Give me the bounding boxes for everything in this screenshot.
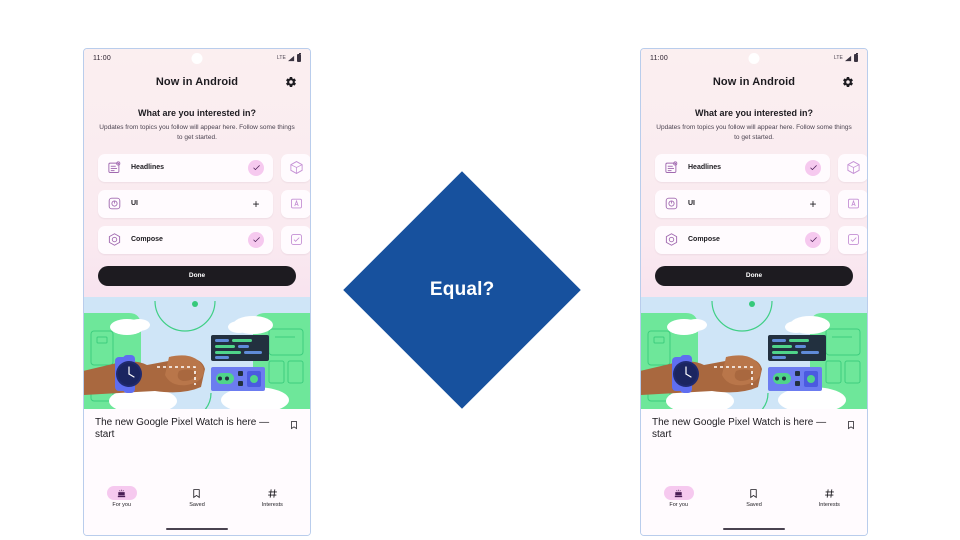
compose-hexagon-icon: [107, 232, 122, 247]
check-icon: [809, 163, 818, 172]
done-button[interactable]: Done: [98, 266, 296, 286]
topic-label: Compose: [131, 236, 248, 243]
phone-screen: 11:00 LTE Now in Android What are you in…: [84, 49, 310, 535]
topic-label: UI: [688, 200, 805, 207]
intro-title: What are you interested in?: [98, 108, 296, 118]
ui-camera-icon: [107, 196, 122, 211]
equal-decision-label: Equal?: [430, 279, 495, 301]
follow-toggle-compose[interactable]: [248, 232, 264, 248]
checkbox-icon: [846, 232, 861, 247]
status-time: 11:00: [650, 55, 668, 62]
nav-item-saved[interactable]: Saved: [159, 486, 234, 508]
for-you-icon: [116, 488, 127, 499]
topic-label: Headlines: [688, 164, 805, 171]
bookmark-icon: [748, 488, 759, 499]
nav-item-saved[interactable]: Saved: [716, 486, 791, 508]
done-button-container: Done: [84, 262, 310, 297]
topic-label: Compose: [688, 236, 805, 243]
nav-label: Interests: [262, 502, 283, 508]
topic-card-ui[interactable]: UI +: [98, 190, 273, 218]
bottom-navigation[interactable]: For you Saved Inte: [84, 483, 310, 523]
topic-card-peek-2[interactable]: [281, 190, 310, 218]
news-card-title: The new Google Pixel Watch is here — sta…: [95, 417, 283, 484]
punch-hole-camera-icon: [192, 53, 203, 64]
topic-card-ui[interactable]: UI +: [655, 190, 830, 218]
follow-toggle-compose[interactable]: [805, 232, 821, 248]
topic-card-compose[interactable]: Compose: [98, 226, 273, 254]
status-bar: 11:00 LTE: [84, 49, 310, 67]
gear-icon[interactable]: [285, 76, 297, 88]
nav-label: For you: [669, 502, 688, 508]
topic-row: UI +: [655, 190, 867, 218]
page-title: Now in Android: [156, 76, 238, 88]
hash-icon: [824, 488, 835, 499]
topic-row: UI +: [98, 190, 310, 218]
intro-block: What are you interested in? Updates from…: [641, 97, 867, 143]
nav-pill: [257, 486, 287, 500]
bookmark-icon[interactable]: [289, 419, 299, 431]
nav-label: For you: [112, 502, 131, 508]
network-label: LTE: [834, 55, 843, 61]
check-icon: [809, 235, 818, 244]
status-icons: LTE: [277, 54, 301, 62]
illustration-art: [641, 297, 867, 409]
signal-bars-icon: [288, 55, 295, 62]
news-card[interactable]: The new Google Pixel Watch is here — sta…: [641, 409, 867, 484]
page-title: Now in Android: [713, 76, 795, 88]
punch-hole-camera-icon: [749, 53, 760, 64]
topic-card-compose[interactable]: Compose: [655, 226, 830, 254]
cube-3d-icon: [846, 160, 861, 175]
for-you-icon: [673, 488, 684, 499]
topic-card-peek-2[interactable]: [838, 190, 867, 218]
topic-label: UI: [131, 200, 248, 207]
hash-icon: [267, 488, 278, 499]
ui-camera-icon: [664, 196, 679, 211]
gesture-navigation-bar[interactable]: [84, 523, 310, 535]
pixel-watch-hand-illustration: [641, 297, 867, 409]
intro-subtitle: Updates from topics you follow will appe…: [655, 123, 853, 143]
done-button[interactable]: Done: [655, 266, 853, 286]
checkbox-icon: [289, 232, 304, 247]
equal-decision-diamond: Equal?: [343, 171, 581, 409]
gesture-navigation-bar[interactable]: [641, 523, 867, 535]
intro-block: What are you interested in? Updates from…: [84, 97, 310, 143]
headlines-icon: [107, 160, 122, 175]
topic-card-peek-3[interactable]: [838, 226, 867, 254]
topic-row: Compose: [655, 226, 867, 254]
app-bar: Now in Android: [84, 67, 310, 97]
cube-3d-icon: [289, 160, 304, 175]
topic-row: Headlines: [655, 154, 867, 182]
topic-carousel[interactable]: Headlines: [84, 154, 310, 262]
nav-pill-active: [107, 486, 137, 500]
battery-icon: [854, 54, 858, 62]
gear-icon[interactable]: [842, 76, 854, 88]
phone-screen: 11:00 LTE Now in Android What are you in…: [641, 49, 867, 535]
done-button-container: Done: [641, 262, 867, 297]
nav-item-for-you[interactable]: For you: [641, 486, 716, 508]
follow-toggle-ui[interactable]: +: [805, 198, 821, 210]
topic-card-peek-3[interactable]: [281, 226, 310, 254]
ar-text-icon: [846, 196, 861, 211]
check-icon: [252, 163, 261, 172]
network-label: LTE: [277, 55, 286, 61]
news-card-title: The new Google Pixel Watch is here — sta…: [652, 417, 840, 484]
nav-item-for-you[interactable]: For you: [84, 486, 159, 508]
topic-label: Headlines: [131, 164, 248, 171]
topic-card-headlines[interactable]: Headlines: [655, 154, 830, 182]
compose-hexagon-icon: [664, 232, 679, 247]
app-bar: Now in Android: [641, 67, 867, 97]
nav-pill-active: [664, 486, 694, 500]
intro-subtitle: Updates from topics you follow will appe…: [98, 123, 296, 143]
nav-label: Saved: [189, 502, 205, 508]
done-button-label: Done: [189, 272, 205, 279]
check-icon: [252, 235, 261, 244]
signal-bars-icon: [845, 55, 852, 62]
nav-label: Interests: [819, 502, 840, 508]
ar-text-icon: [289, 196, 304, 211]
phone-screenshot-right: 11:00 LTE Now in Android What are you in…: [640, 48, 868, 536]
bottom-navigation[interactable]: For you Saved Inte: [641, 483, 867, 523]
follow-toggle-ui[interactable]: +: [248, 198, 264, 210]
comparison-stage: 11:00 LTE Now in Android What are you in…: [0, 0, 960, 540]
topic-row: Headlines: [98, 154, 310, 182]
status-bar: 11:00 LTE: [641, 49, 867, 67]
bookmark-icon[interactable]: [846, 419, 856, 431]
status-time: 11:00: [93, 55, 111, 62]
battery-icon: [297, 54, 301, 62]
news-card[interactable]: The new Google Pixel Watch is here — sta…: [84, 409, 310, 484]
topic-card-peek-1[interactable]: [281, 154, 310, 182]
nav-label: Saved: [746, 502, 762, 508]
intro-title: What are you interested in?: [655, 108, 853, 118]
illustration-art: [84, 297, 310, 409]
topic-row: Compose: [98, 226, 310, 254]
nav-pill: [182, 486, 212, 500]
phone-screenshot-left: 11:00 LTE Now in Android What are you in…: [83, 48, 311, 536]
follow-toggle-headlines[interactable]: [248, 160, 264, 176]
topic-card-peek-1[interactable]: [838, 154, 867, 182]
nav-item-interests[interactable]: Interests: [235, 486, 310, 508]
nav-pill: [739, 486, 769, 500]
follow-toggle-headlines[interactable]: [805, 160, 821, 176]
status-icons: LTE: [834, 54, 858, 62]
pixel-watch-hand-illustration: [84, 297, 310, 409]
bookmark-icon: [191, 488, 202, 499]
done-button-label: Done: [746, 272, 762, 279]
topic-card-headlines[interactable]: Headlines: [98, 154, 273, 182]
topic-carousel[interactable]: Headlines: [641, 154, 867, 262]
nav-pill: [814, 486, 844, 500]
nav-item-interests[interactable]: Interests: [792, 486, 867, 508]
headlines-icon: [664, 160, 679, 175]
